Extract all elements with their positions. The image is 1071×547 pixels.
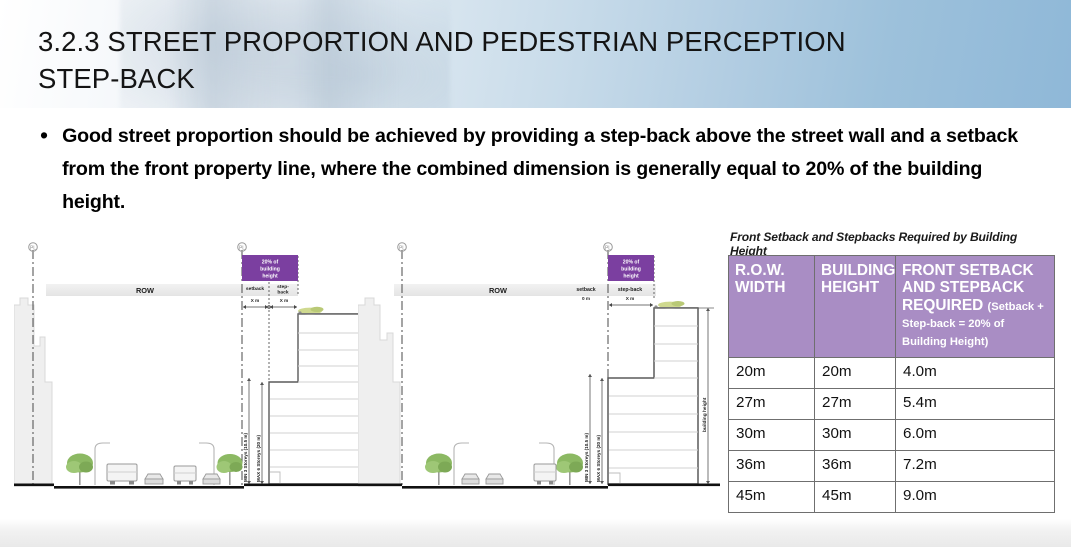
cell-row-width: 30m xyxy=(729,420,815,451)
street-tree xyxy=(556,454,583,486)
rooftop-landscaping xyxy=(654,301,698,309)
street-section-diagram-with-setback: ROW PL PL 20% of building height setback… xyxy=(14,236,362,506)
callout-20-percent: 20% of building height xyxy=(608,255,654,281)
column-header-required-setback: FRONT SETBACK AND STEPBACK REQUIRED (Set… xyxy=(896,256,1055,358)
setback-dimension: X m xyxy=(243,298,268,309)
svg-text:PL: PL xyxy=(399,246,405,252)
max-storeys-label: MAX 6 Storeys (20 m) xyxy=(596,435,601,482)
existing-building-silhouette xyxy=(358,298,400,486)
row-label: ROW xyxy=(136,286,154,295)
street-section-diagram-zero-setback: ROW PL PL 20% of building height setback… xyxy=(358,236,720,506)
table-header-row: R.O.W. WIDTH BUILDING HEIGHT FRONT SETBA… xyxy=(729,256,1055,358)
cell-required: 4.0m xyxy=(896,358,1055,389)
vehicle-truck xyxy=(107,464,137,485)
setback-requirements-table: R.O.W. WIDTH BUILDING HEIGHT FRONT SETBA… xyxy=(728,255,1055,513)
table-row: 36m 36m 7.2m xyxy=(729,451,1055,482)
svg-text:building: building xyxy=(260,266,280,272)
svg-text:PL: PL xyxy=(30,246,36,252)
diagram-2-svg: ROW PL PL 20% of building height setback… xyxy=(358,236,720,506)
cell-building-height: 27m xyxy=(815,389,896,420)
slide-bottom-edge xyxy=(0,519,1071,547)
vehicle-truck xyxy=(174,466,196,485)
min-storeys-label: MIN 3 Storeys (10.5 m) xyxy=(584,433,589,482)
setback-label: setback xyxy=(576,287,595,293)
new-building xyxy=(608,308,698,484)
cell-required: 7.2m xyxy=(896,451,1055,482)
cell-required: 5.4m xyxy=(896,389,1055,420)
bullet-item-text: Good street proportion should be achieve… xyxy=(62,120,1040,219)
cell-row-width: 27m xyxy=(729,389,815,420)
cell-row-width: 36m xyxy=(729,451,815,482)
stepback-label-line2: back xyxy=(277,289,288,295)
vehicle-car xyxy=(486,474,503,484)
column-header-building-height: BUILDING HEIGHT xyxy=(815,256,896,358)
table-row: 27m 27m 5.4m xyxy=(729,389,1055,420)
setback-value: 0 m xyxy=(582,296,590,301)
vehicle-truck xyxy=(534,464,556,485)
cell-required: 9.0m xyxy=(896,482,1055,513)
slide-header-banner: 3.2.3 STREET PROPORTION AND PEDESTRIAN P… xyxy=(0,0,1071,108)
svg-text:X m: X m xyxy=(251,298,259,303)
building-height-dimension xyxy=(698,308,714,484)
diagram-1-svg: ROW PL PL 20% of building height setback… xyxy=(14,236,362,506)
vehicle-car xyxy=(145,474,163,484)
stepback-label: step-back xyxy=(618,287,642,293)
svg-text:PL: PL xyxy=(605,246,611,252)
ground-line xyxy=(14,484,362,489)
bullet-marker-icon: • xyxy=(40,119,48,152)
row-label: ROW xyxy=(489,286,507,295)
min-storeys-label: MIN 3 Storeys (10.5 m) xyxy=(243,433,248,482)
table-row: 20m 20m 4.0m xyxy=(729,358,1055,389)
table-row: 45m 45m 9.0m xyxy=(729,482,1055,513)
svg-text:20% of: 20% of xyxy=(623,259,640,265)
building-height-label: building height xyxy=(702,397,708,432)
max-storeys-label: MAX 6 Storeys (20 m) xyxy=(256,435,261,482)
street-tree xyxy=(66,454,93,486)
svg-text:PL: PL xyxy=(239,246,245,252)
bullet-list: • Good street proportion should be achie… xyxy=(40,120,1040,219)
cell-building-height: 45m xyxy=(815,482,896,513)
cell-building-height: 30m xyxy=(815,420,896,451)
cell-building-height: 36m xyxy=(815,451,896,482)
svg-text:height: height xyxy=(623,273,639,279)
setback-label: setback xyxy=(246,286,264,292)
vehicle-car xyxy=(462,474,479,484)
cell-row-width: 45m xyxy=(729,482,815,513)
svg-text:20% of: 20% of xyxy=(262,259,279,265)
cell-row-width: 20m xyxy=(729,358,815,389)
column-header-row-width: R.O.W. WIDTH xyxy=(729,256,815,358)
new-building xyxy=(269,314,362,484)
vehicle-car xyxy=(203,474,220,484)
svg-text:height: height xyxy=(262,273,278,279)
stepback-label-line1: step- xyxy=(277,284,289,290)
cell-required: 6.0m xyxy=(896,420,1055,451)
svg-text:X m: X m xyxy=(626,296,635,301)
svg-text:building: building xyxy=(621,266,641,272)
page-title: 3.2.3 STREET PROPORTION AND PEDESTRIAN P… xyxy=(38,24,998,97)
stepback-dimension: X m xyxy=(268,298,297,309)
stepback-dimension: X m xyxy=(609,296,653,307)
cell-building-height: 20m xyxy=(815,358,896,389)
street-tree xyxy=(425,454,452,486)
callout-20-percent: 20% of building height xyxy=(242,255,298,281)
rooftop-landscaping xyxy=(298,307,362,315)
setback-requirements-table-block: Front Setback and Stepbacks Required by … xyxy=(727,230,1059,512)
table-row: 30m 30m 6.0m xyxy=(729,420,1055,451)
svg-text:X m: X m xyxy=(280,298,288,303)
